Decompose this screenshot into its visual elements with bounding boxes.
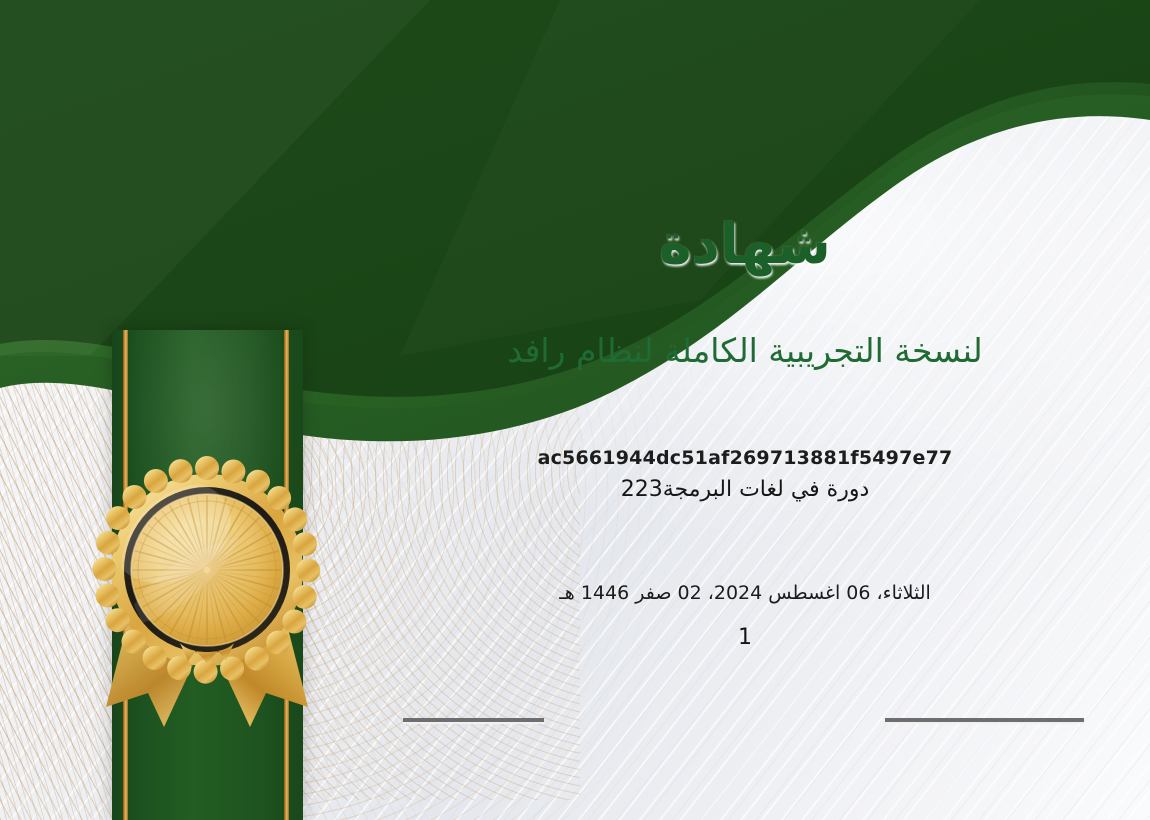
page-title: شهادة [340, 214, 1150, 275]
certificate-page: شهادة لنسخة التجريبية الكاملة لنظام رافد… [0, 0, 1150, 820]
certificate-hash: ac5661944dc51af269713881f5497e77 [340, 447, 1150, 469]
signature-line-left [403, 718, 544, 724]
certificate-date: الثلاثاء، 06 اغسطس 2024، 02 صفر 1446 هـ [340, 582, 1150, 604]
award-rosette-icon [72, 455, 342, 755]
certificate-number: 1 [340, 625, 1150, 650]
certificate-subtitle: لنسخة التجريبية الكاملة لنظام رافد [340, 330, 1150, 371]
certificate-content: شهادة لنسخة التجريبية الكاملة لنظام رافد… [340, 0, 1150, 820]
course-name: دورة في لغات البرمجة223 [340, 477, 1150, 502]
signature-line-right [885, 718, 1084, 724]
